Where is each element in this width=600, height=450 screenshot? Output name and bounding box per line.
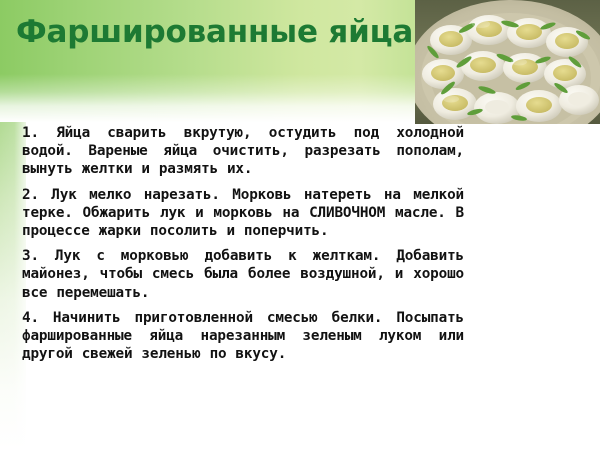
recipe-step: 1. Яйца сварить вкрутую, остудить под хо… [22, 124, 464, 179]
recipe-step: 3. Лук с морковью добавить к желткам. До… [22, 247, 464, 302]
recipe-slide: Фаршированные яйца [0, 0, 600, 450]
page-title: Фаршированные яйца [16, 13, 413, 51]
recipe-step: 4. Начинить приготовленной смесью белки.… [22, 309, 464, 364]
recipe-step: 2. Лук мелко нарезать. Морковь натереть … [22, 186, 464, 241]
dish-photo [415, 0, 600, 124]
recipe-steps-list: 1. Яйца сварить вкрутую, остудить под хо… [22, 124, 464, 363]
